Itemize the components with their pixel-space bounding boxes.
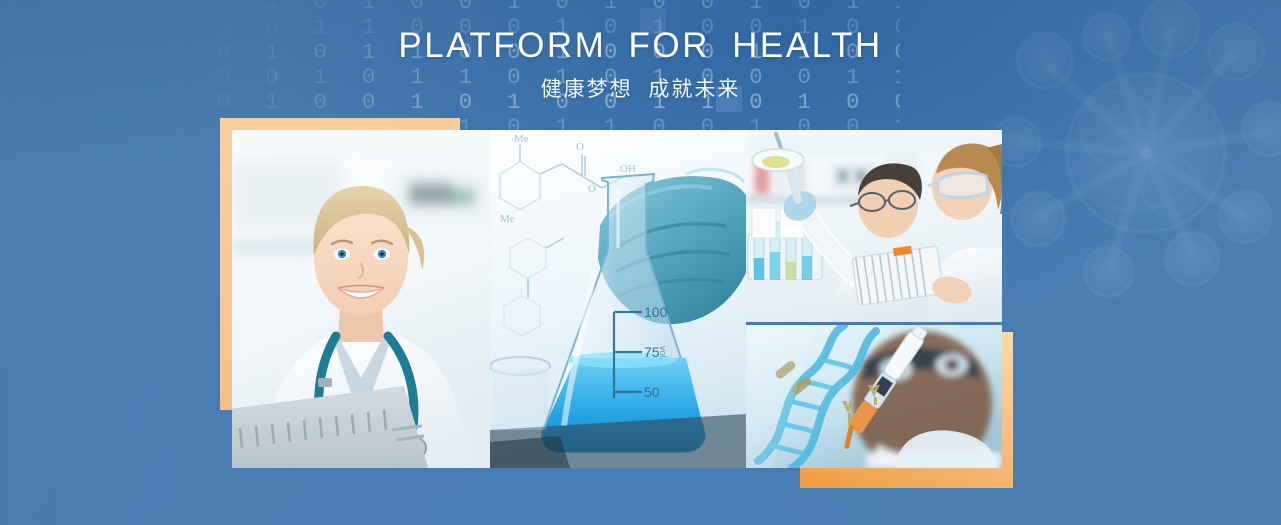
svg-text:50: 50	[644, 384, 660, 400]
svg-text:O: O	[588, 183, 596, 195]
binary-row: 0 1 0 0 1 0 1 1 0 1 0 1 0 0 0 1 1 0 1 0 …	[120, 65, 900, 90]
svg-text:75: 75	[644, 344, 660, 360]
svg-text:vol.: vol.	[658, 346, 668, 360]
binary-row: 0 1 1 0 1 1 0 0 0 1 0 1 0 0 1 0 0 1 1 0 …	[120, 15, 900, 40]
binary-row: 1 1 0 1 0 0 1 0 1 0 0 1 1 0 1 0 0 0 1 1 …	[120, 90, 900, 115]
svg-text:O: O	[576, 141, 584, 153]
photo-lab-researchers	[746, 130, 1002, 322]
photo-dna-pipette	[746, 325, 1002, 468]
photo-smiling-doctor	[232, 130, 490, 468]
binary-row: 1 0 0 1 0 1 1 0 0 1 0 0 0 1 1 0 0 1 0 1 …	[120, 40, 900, 65]
photo-flask: Me O O OH Me	[490, 130, 746, 468]
svg-text:Me: Me	[514, 133, 529, 145]
binary-row: 1 0 1 1 0 1 0 0 1 0 1 0 0 1 0 1 1 0 0 1 …	[120, 0, 900, 15]
svg-text:OH: OH	[620, 163, 636, 175]
svg-text:100: 100	[644, 304, 668, 320]
svg-text:Me: Me	[500, 213, 515, 225]
health-platform-banner: 1 0 1 1 0 1 0 0 1 0 1 0 0 1 0 1 1 0 0 1 …	[0, 0, 1281, 525]
